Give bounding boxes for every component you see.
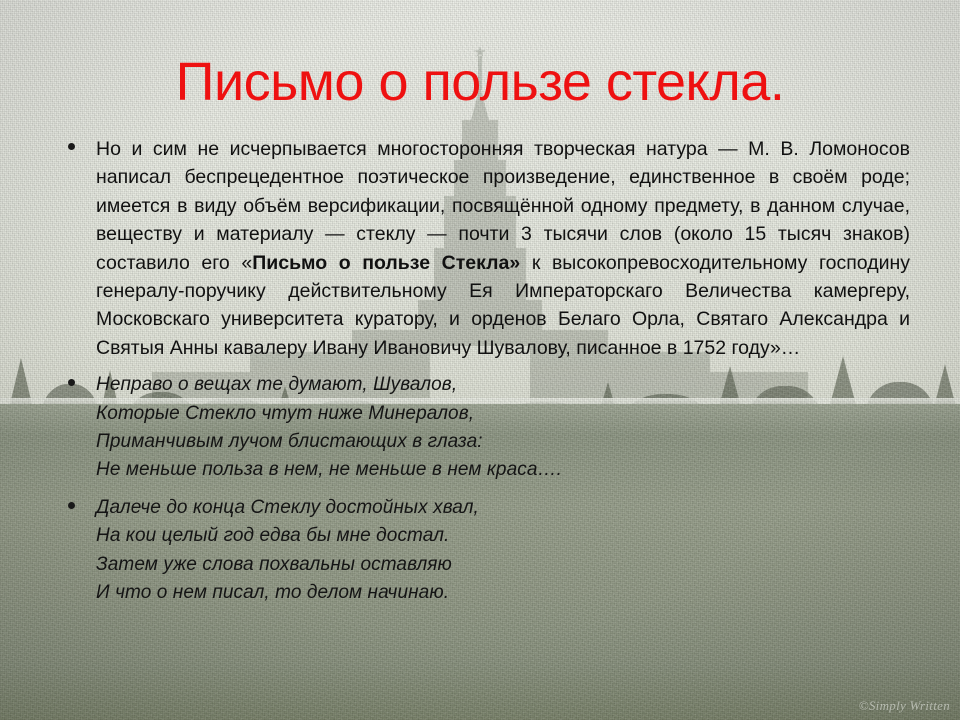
verse-line: На кои целый год едва бы мне достал.	[96, 522, 910, 550]
bullet-paragraph-1: Но и сим не исчерпывается многосторонняя…	[96, 135, 910, 362]
verse-line: Неправо о вещах те думают, Шувалов,	[96, 371, 910, 399]
bullet-item-2: Неправо о вещах те думают, Шувалов, Кото…	[60, 371, 910, 485]
slide-title: Письмо о пользе стекла.	[0, 52, 960, 112]
verse-stanza-2: Далече до конца Стеклу достойных хвал, Н…	[96, 494, 910, 608]
bullet-dot-icon	[68, 379, 75, 386]
bullet-list: Но и сим не исчерпывается многосторонняя…	[60, 135, 910, 608]
bullet-dot-icon	[68, 502, 75, 509]
verse-line: Которые Стекло чтут ниже Минералов,	[96, 400, 910, 428]
verse-stanza-1: Неправо о вещах те думают, Шувалов, Кото…	[96, 371, 910, 485]
verse-line: Затем уже слова похвальны оставляю	[96, 551, 910, 579]
watermark: ©Simply Written	[859, 698, 950, 714]
slide: Письмо о пользе стекла. Но и сим не исче…	[0, 0, 960, 720]
verse-line: Не меньше польза в нем, не меньше в нем …	[96, 456, 910, 484]
verse-line: Приманчивым лучом блистающих в глаза:	[96, 428, 910, 456]
bullet-dot-icon	[68, 143, 75, 150]
bullet-item-3: Далече до конца Стеклу достойных хвал, Н…	[60, 494, 910, 608]
verse-line: Далече до конца Стеклу достойных хвал,	[96, 494, 910, 522]
bullet-item-1: Но и сим не исчерпывается многосторонняя…	[60, 135, 910, 362]
paragraph-bold-title: Письмо о пользе Стекла»	[252, 252, 520, 274]
slide-content: Письмо о пользе стекла. Но и сим не исче…	[0, 0, 960, 720]
verse-line: И что о нем писал, то делом начинаю.	[96, 579, 910, 607]
